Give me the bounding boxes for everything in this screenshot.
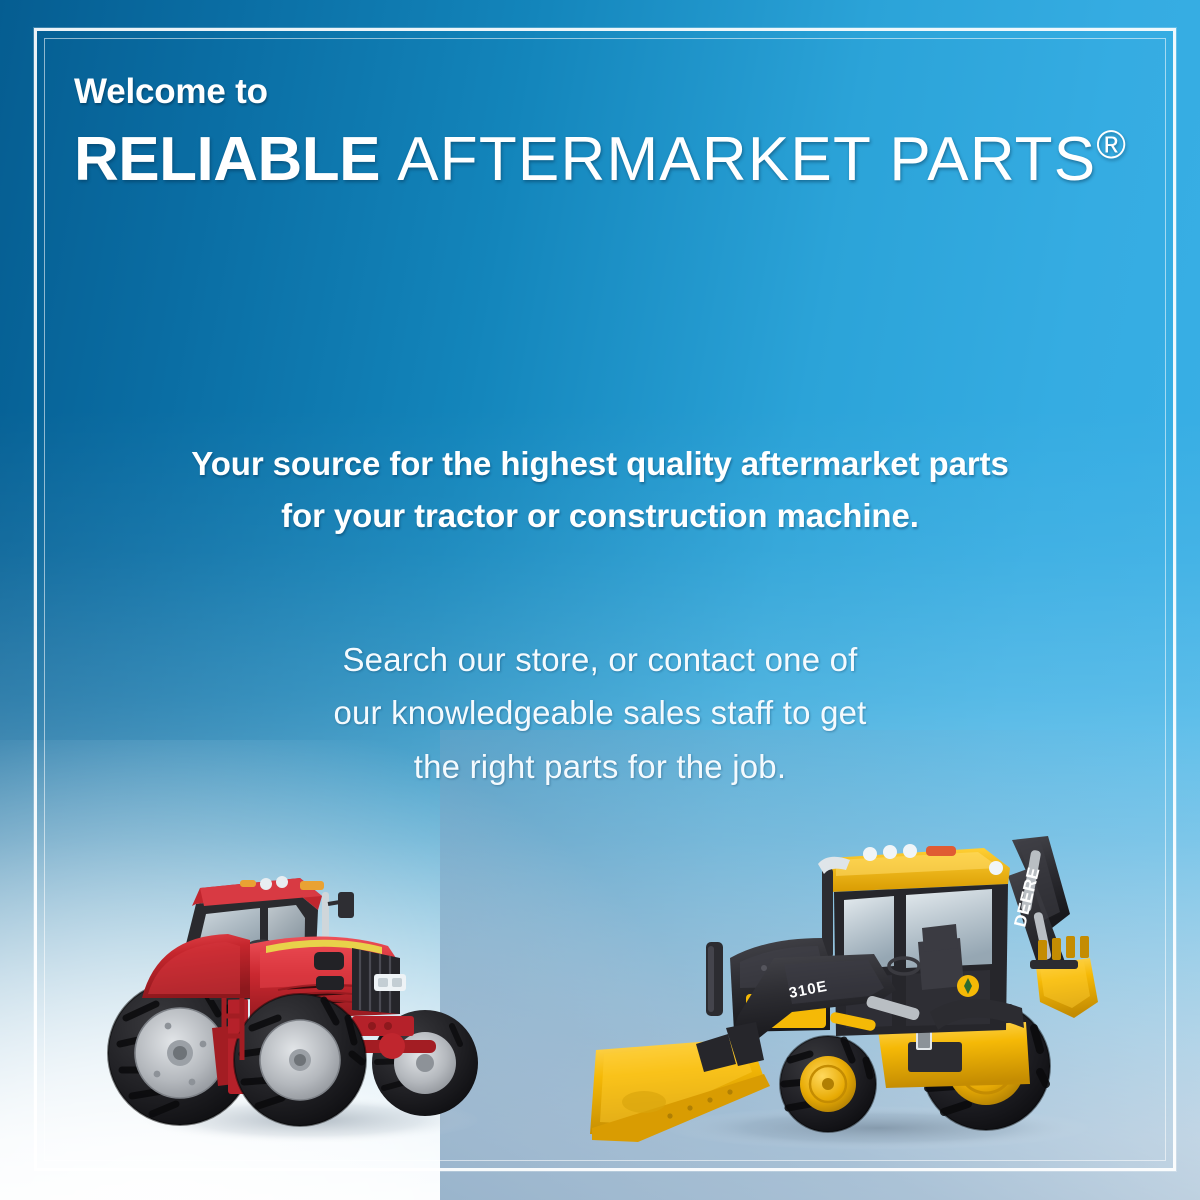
subline-block: Search our store, or contact one of our … — [0, 633, 1200, 793]
promo-banner: Welcome to RELIABLE AFTERMARKET PARTS® Y… — [0, 0, 1200, 1200]
registered-trademark-icon: ® — [1096, 123, 1125, 167]
headline-block: Welcome to RELIABLE AFTERMARKET PARTS® — [74, 74, 1164, 191]
tagline-block: Your source for the highest quality afte… — [0, 438, 1200, 542]
tagline-line-2: for your tractor or construction machine… — [0, 490, 1200, 542]
tractor-mirror — [338, 892, 354, 918]
subline-line-2: our knowledgeable sales staff to get — [0, 686, 1200, 739]
red-tractor-image — [100, 848, 502, 1148]
tractor-front-wheel-near — [234, 994, 366, 1126]
welcome-label: Welcome to — [74, 74, 1164, 111]
subline-line-3: the right parts for the job. — [0, 740, 1200, 793]
backhoe-rear-arm: DEERE — [1008, 836, 1098, 1018]
tagline-line-1: Your source for the highest quality afte… — [0, 438, 1200, 490]
brand-name-strong: RELIABLE — [74, 125, 380, 194]
yellow-backhoe-loader-image: DEERE — [578, 816, 1106, 1152]
backhoe-front-wheel — [780, 1036, 876, 1132]
subline-line-1: Search our store, or contact one of — [0, 633, 1200, 686]
brand-name-light: AFTERMARKET PARTS — [397, 125, 1096, 194]
brand-title: RELIABLE AFTERMARKET PARTS® — [74, 125, 1164, 191]
tractor-exhaust-stack — [322, 892, 329, 944]
